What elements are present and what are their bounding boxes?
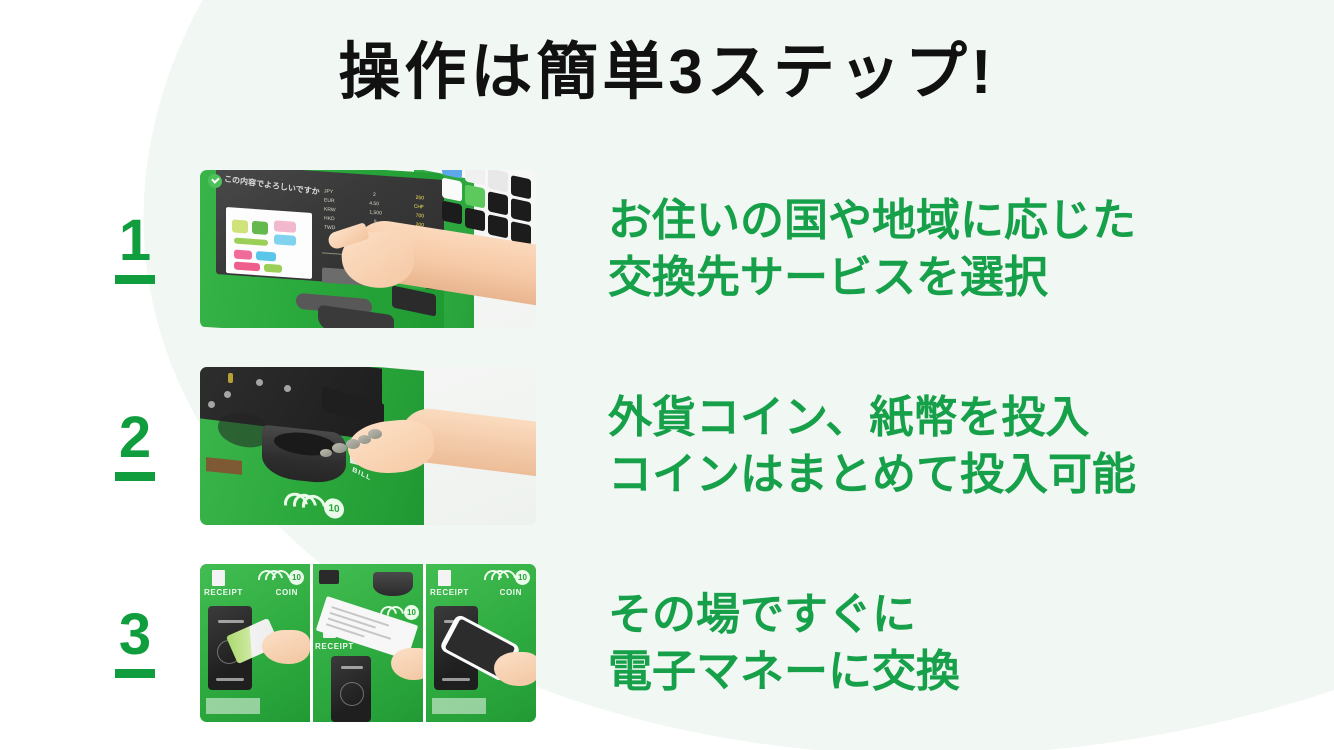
step-caption-1: お住いの国や地域に応じた 交換先サービスを選択 xyxy=(608,192,1136,306)
screen-service-card xyxy=(226,206,312,278)
caption-line-1: その場ですぐに xyxy=(608,586,960,643)
caption-line-2: 電子マネーに交換 xyxy=(608,643,960,700)
step-caption-3: その場ですぐに 電子マネーに交換 xyxy=(608,586,960,700)
coin-badge-number: 10 xyxy=(324,497,344,519)
person-hand xyxy=(262,630,310,664)
step-photo-2-coin-insertion: BILL 10 xyxy=(200,367,536,525)
photo-panel-ic-card: RECEIPT 10 COIN xyxy=(200,564,310,722)
step-number-underline xyxy=(115,275,155,284)
step-item-3: 3 RECEIPT 10 COIN xyxy=(0,544,1334,741)
step-photo-3-payment-options: RECEIPT 10 COIN xyxy=(200,564,536,722)
coin-badge-number: 10 xyxy=(515,570,530,585)
receipt-label: RECEIPT xyxy=(204,588,243,597)
page-root: 操作は簡単3ステップ! 1 この内容でよろしいですか xyxy=(0,0,1334,750)
caption-line-2: コインはまとめて投入可能 xyxy=(608,446,1136,503)
step-number-badge-2: 2 xyxy=(80,410,190,481)
step-caption-2: 外貨コイン、紙幣を投入 コインはまとめて投入可能 xyxy=(608,389,1136,503)
photo-panel-receipt: 10 RECEIPT xyxy=(313,564,423,722)
panel-dark-chip xyxy=(319,570,339,584)
step-number-digit: 2 xyxy=(119,410,151,466)
coin-tray xyxy=(373,572,413,596)
steps-list: 1 この内容でよろしいですか xyxy=(0,150,1334,741)
step-number-badge-3: 3 xyxy=(80,607,190,678)
coin-badge-number: 10 xyxy=(289,570,304,585)
coin-badge-number: 10 xyxy=(404,605,419,620)
coin-label: COIN xyxy=(276,588,298,597)
receipt-label: RECEIPT xyxy=(430,588,469,597)
receipt-icon xyxy=(212,570,225,586)
photo-panel-group: RECEIPT 10 COIN xyxy=(200,564,536,722)
caption-line-1: 外貨コイン、紙幣を投入 xyxy=(608,389,1136,446)
instruction-plate xyxy=(432,698,486,714)
caption-line-1: お住いの国や地域に応じた xyxy=(608,192,1136,249)
person-hand xyxy=(494,652,536,686)
step-item-1: 1 この内容でよろしいですか xyxy=(0,150,1334,347)
step-item-2: 2 BILL xyxy=(0,347,1334,544)
receipt-label: RECEIPT xyxy=(315,642,354,651)
step-number-underline xyxy=(115,669,155,678)
step-number-digit: 3 xyxy=(119,607,151,663)
step-photo-1-kiosk-touchscreen: この内容でよろしいですか JPY2250EUR4.50CHFKRW1,50070… xyxy=(200,170,536,328)
page-title: 操作は簡単3ステップ! xyxy=(0,38,1334,108)
receipt-icon xyxy=(438,570,451,586)
step-number-badge-1: 1 xyxy=(80,213,190,284)
instruction-plate xyxy=(206,698,260,714)
coin-label: COIN xyxy=(500,588,522,597)
step-number-underline xyxy=(115,472,155,481)
caption-line-2: 交換先サービスを選択 xyxy=(608,249,1136,306)
photo-panel-smartphone: RECEIPT 10 COIN xyxy=(426,564,536,722)
step-number-digit: 1 xyxy=(119,213,151,269)
